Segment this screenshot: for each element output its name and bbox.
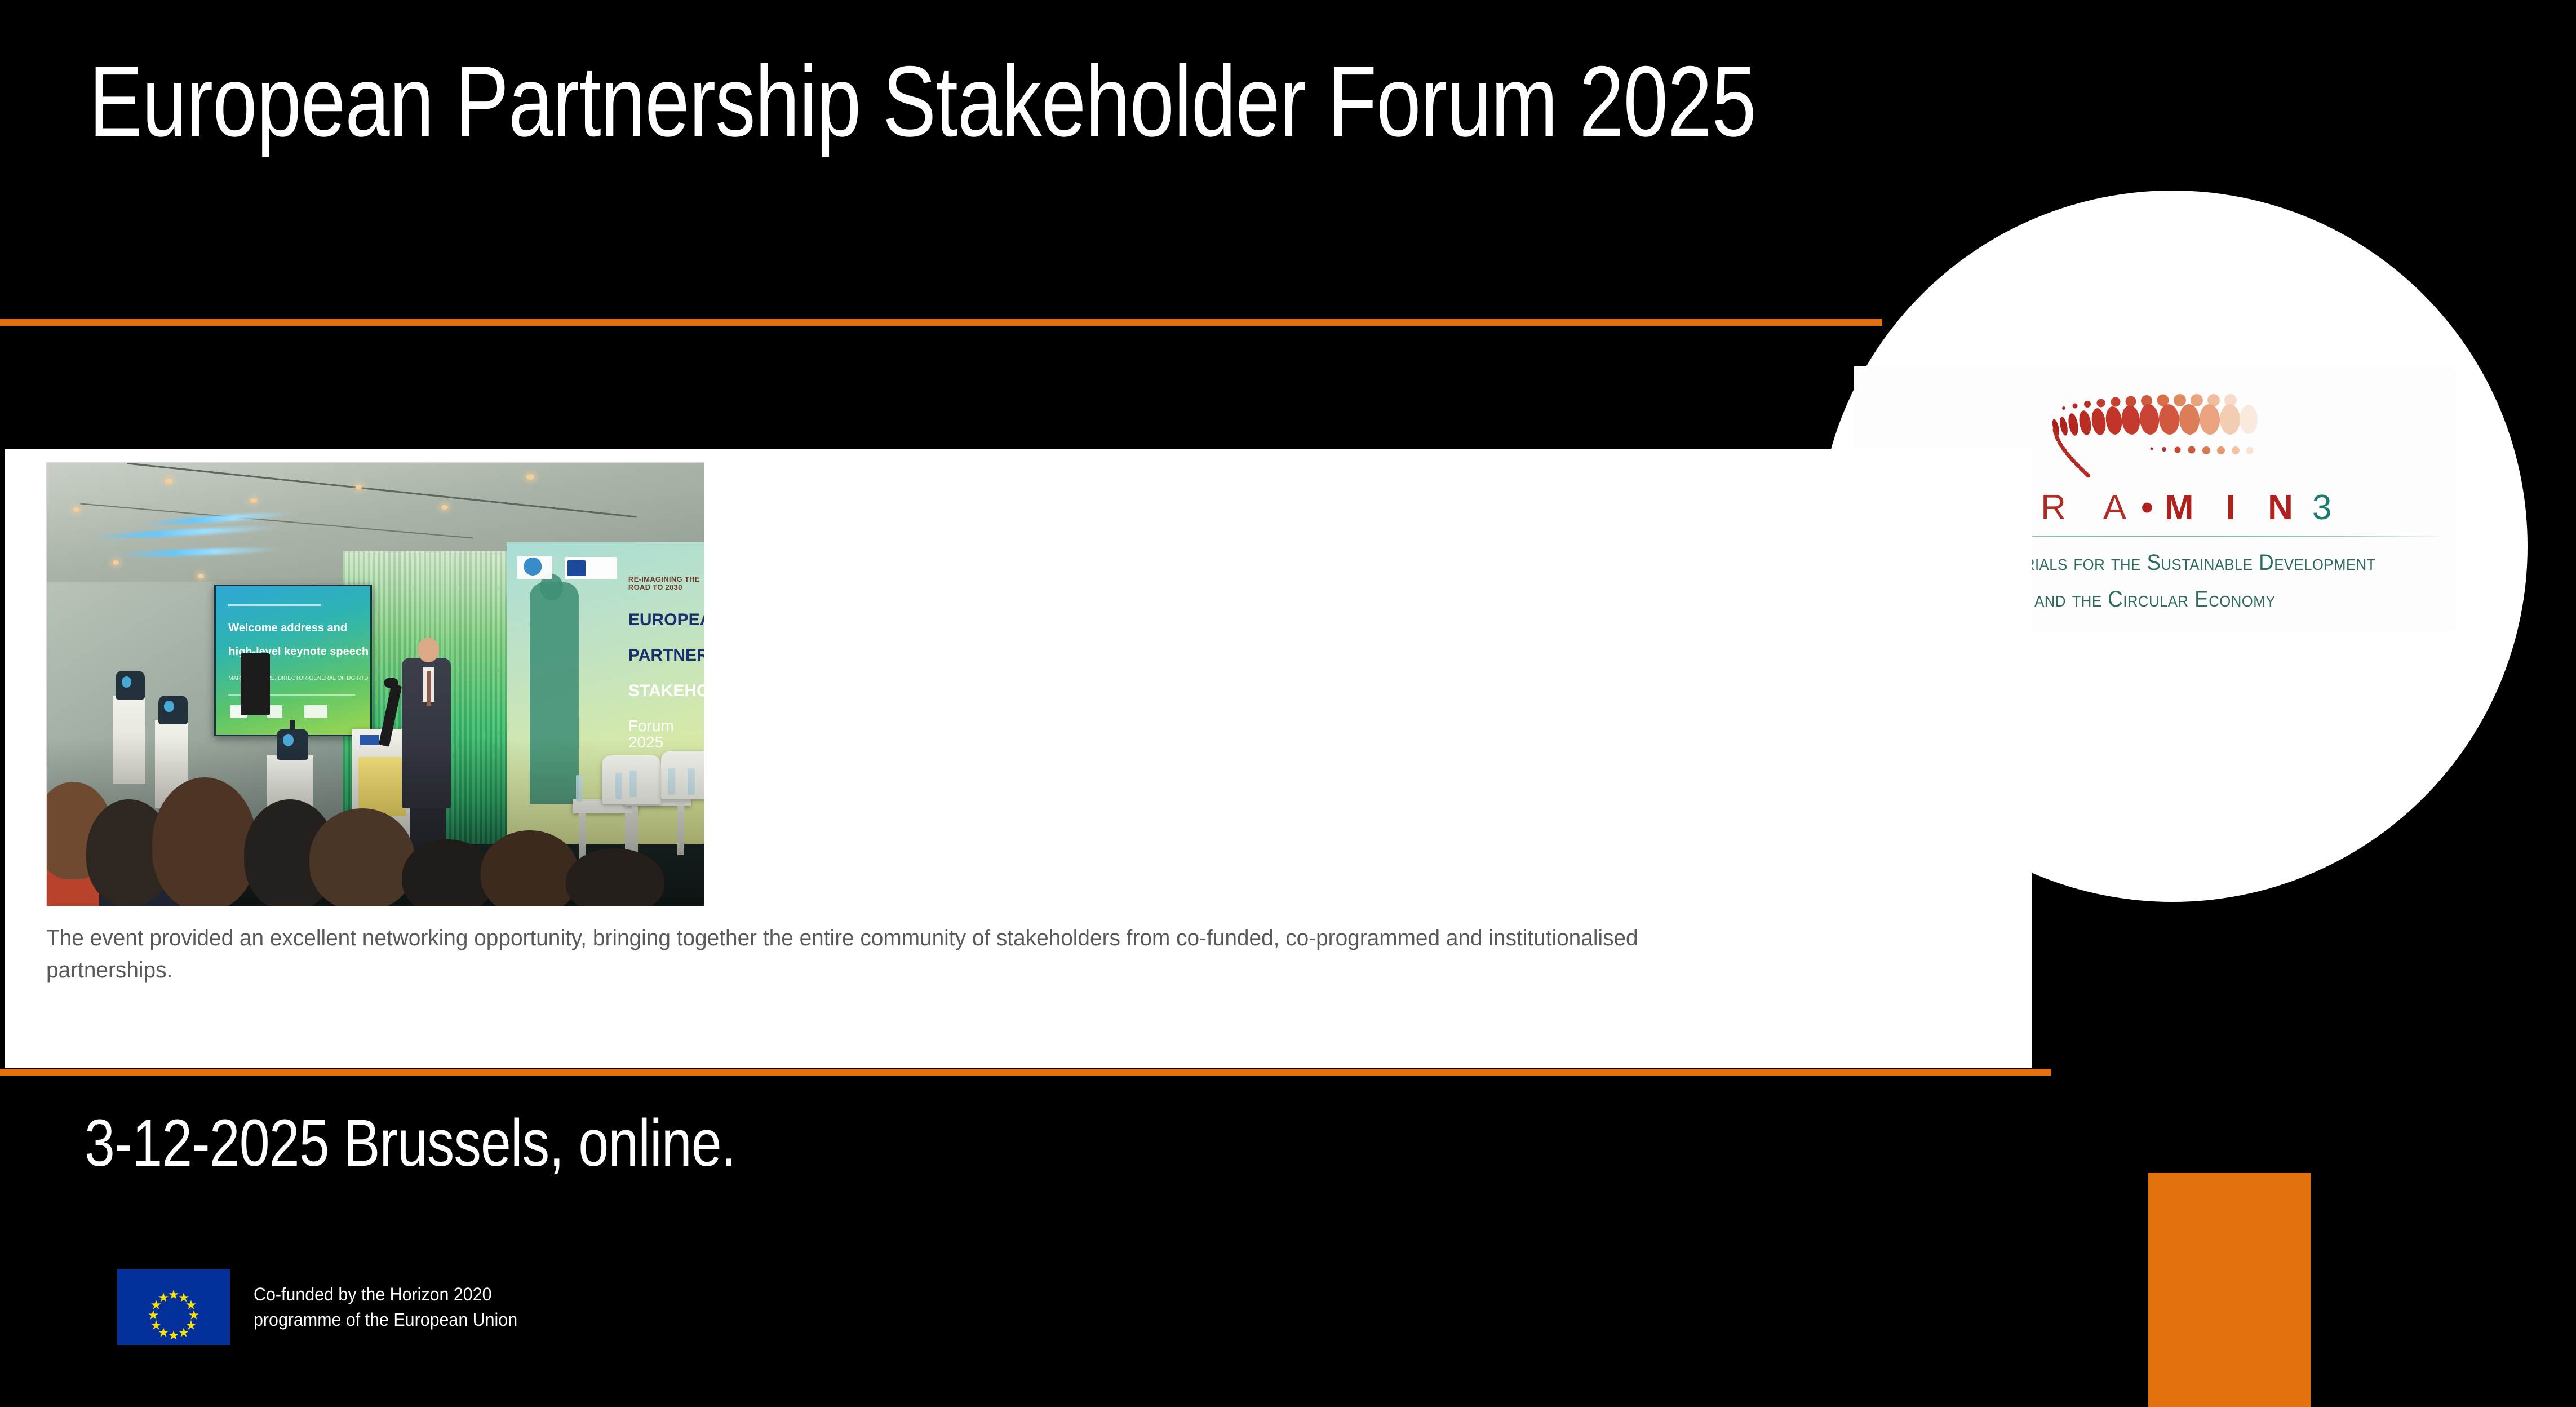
photo-banner-logo-european-commission: [565, 557, 617, 579]
screen-logo-3: [304, 705, 327, 719]
funding-text: Co-funded by the Horizon 2020 programme …: [254, 1282, 517, 1333]
photo-presentation-screen: Welcome address and high-level keynote s…: [214, 585, 372, 736]
european-union-flag-icon: [117, 1269, 230, 1345]
photo-banner-line-3: STAKEHOLDER: [628, 682, 704, 700]
wordmark-min: •M I N: [2141, 488, 2304, 527]
screen-accent-bar: [228, 604, 321, 606]
photo-banner-line-2: PARTNERSHIP: [628, 647, 704, 665]
slide-canvas: European Partnership Stakeholder Forum 2…: [0, 0, 2576, 1407]
photo-ceiling-spotlight: [198, 574, 204, 578]
divider-top: [0, 319, 1882, 326]
photo-audience-head: [481, 830, 579, 906]
accent-block: [2148, 1172, 2311, 1407]
photo-stage-light: [158, 696, 187, 724]
content-panel: RE-IMAGINING THE ROAD TO 2030 EUROPEAN P…: [5, 449, 2032, 1068]
photo-audience-head: [152, 777, 258, 906]
funding-line-1: Co-funded by the Horizon 2020: [254, 1282, 517, 1307]
photo-banner-line-1: EUROPEAN: [628, 611, 704, 629]
event-dateline: 3-12-2025 Brussels, online.: [85, 1105, 736, 1182]
photo-audience-head: [402, 839, 494, 906]
funding-line-2: programme of the European Union: [254, 1307, 517, 1333]
era-min-emblem-icon: [2023, 366, 2260, 482]
photo-audience-head: [309, 808, 415, 906]
wordmark-three: 3: [2304, 488, 2331, 527]
event-photo: RE-IMAGINING THE ROAD TO 2030 EUROPEAN P…: [46, 462, 704, 906]
photo-caption: The event provided an excellent networki…: [46, 922, 1735, 986]
funding-statement: Co-funded by the Horizon 2020 programme …: [117, 1269, 531, 1345]
page-title: European Partnership Stakeholder Forum 2…: [89, 47, 1756, 156]
photo-stage-light: [116, 671, 144, 700]
photo-ceiling-spotlight: [73, 507, 79, 512]
photo-ceiling-spotlight: [113, 560, 119, 565]
divider-bottom: [0, 1069, 2051, 1076]
photo-microphone-icon: [384, 678, 398, 688]
eu-stars: [117, 1269, 230, 1345]
screen-title-line-1: Welcome address and: [228, 622, 347, 635]
photo-ceiling-spotlight: [441, 505, 448, 510]
photo-banner-logo-era-learn: [517, 556, 552, 579]
photo-pa-speaker: [241, 653, 270, 715]
photo-ceiling-spotlight: [165, 479, 172, 484]
photo-ceiling-spotlight: [526, 474, 534, 480]
photo-banner-kicker: RE-IMAGINING THE ROAD TO 2030: [628, 576, 704, 591]
photo-speaker-tie: [427, 671, 431, 706]
